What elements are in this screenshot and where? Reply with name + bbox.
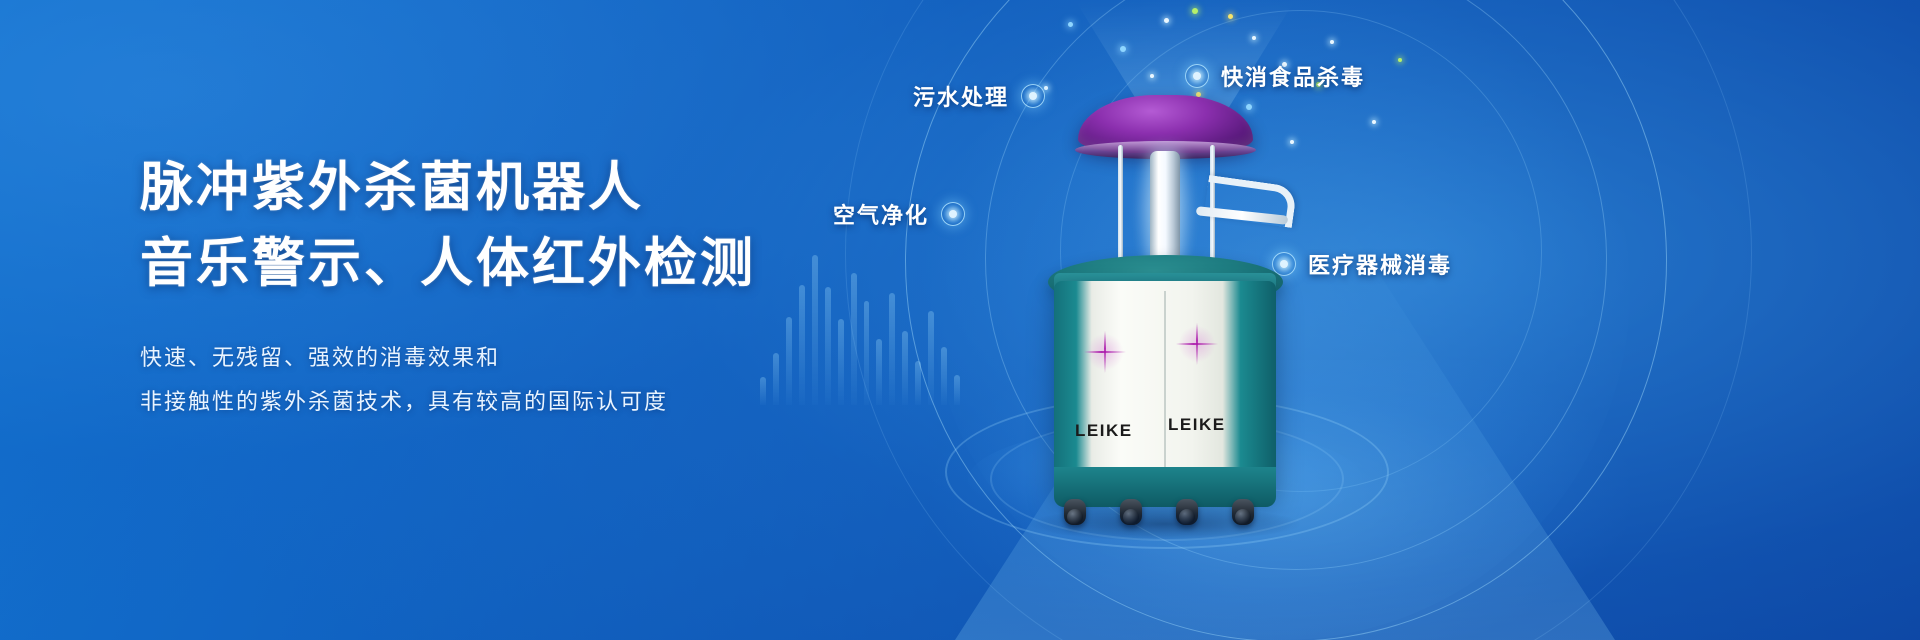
hotspot-air-purification[interactable]: 空气净化 [833,198,965,230]
hotspot-fmcg-food-sterilization[interactable]: 快消食品杀毒 [1185,60,1365,92]
banner-subtitle: 快速、无残留、强效的消毒效果和 非接触性的紫外杀菌技术，具有较高的国际认可度 [140,336,800,424]
support-rod-left [1118,145,1123,271]
hotspot-label: 医疗器械消毒 [1308,248,1452,280]
hotspot-dot-icon [941,202,965,226]
hotspot-label: 污水处理 [913,80,1009,112]
banner-subtitle-line-1: 快速、无残留、强效的消毒效果和 [140,336,800,380]
promo-banner: 脉冲紫外杀菌机器人 音乐警示、人体红外检测 快速、无残留、强效的消毒效果和 非接… [0,0,1920,640]
hotspot-label: 空气净化 [833,198,929,230]
banner-copy: 脉冲紫外杀菌机器人 音乐警示、人体红外检测 快速、无残留、强效的消毒效果和 非接… [140,150,800,424]
hotspot-label: 快消食品杀毒 [1221,60,1365,92]
cabinet-seam [1164,291,1166,491]
uv-lamp-tube [1150,151,1180,267]
brand-text-left: LEIKE [1075,421,1133,441]
banner-title-line-2: 音乐警示、人体红外检测 [140,226,800,302]
banner-subtitle-line-2: 非接触性的紫外杀菌技术，具有较高的国际认可度 [140,380,800,424]
hotspot-dot-icon [1185,64,1209,88]
brand-text-right: LEIKE [1168,415,1226,435]
robot-ground-shadow [1030,507,1300,541]
uv-disinfection-robot-image: LEIKE LEIKE [1020,95,1310,515]
banner-title-line-1: 脉冲紫外杀菌机器人 [140,150,800,226]
sparkle-logo-icon-right [1176,323,1218,365]
sparkle-logo-icon-left [1084,331,1126,373]
